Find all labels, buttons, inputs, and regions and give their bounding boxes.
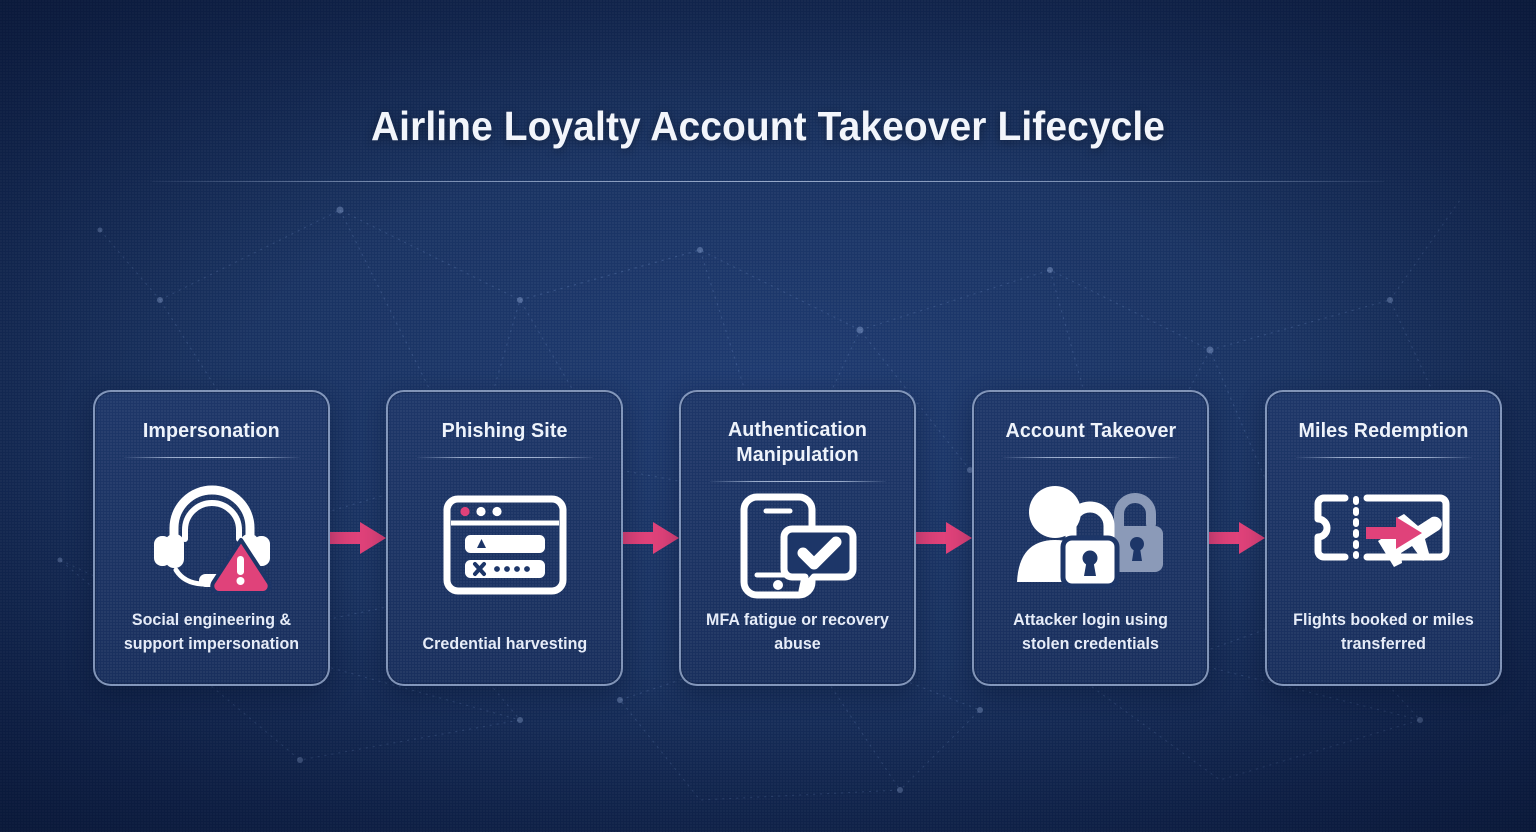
step-description: MFA fatigue or recovery abuse (698, 609, 897, 662)
flow-connector-2 (623, 390, 679, 686)
step-title: Phishing Site (442, 418, 568, 443)
arrow-right-exit-icon (1366, 516, 1422, 550)
page-title: Airline Loyalty Account Takeover Lifecyc… (38, 104, 1497, 149)
step-description: Credential harvesting (422, 633, 587, 662)
step-card-phishing-site[interactable]: Phishing Site (386, 390, 623, 686)
step-title: Miles Redemption (1299, 418, 1469, 443)
step-card-authentication-manipulation[interactable]: Authentication Manipulation MFA fatigue … (679, 390, 916, 686)
step-card-account-takeover[interactable]: Account Takeover (972, 390, 1209, 686)
step-card-impersonation[interactable]: Impersonation (93, 390, 330, 686)
arrow-right-icon (916, 521, 972, 555)
phone-approval-icon (695, 482, 900, 609)
step-description: Flights booked or miles transferred (1284, 609, 1483, 662)
browser-login-form-icon (402, 458, 607, 632)
user-locks-icon (988, 458, 1193, 609)
infographic-canvas: Airline Loyalty Account Takeover Lifecyc… (0, 0, 1536, 832)
flow-connector-3 (916, 390, 972, 686)
step-title: Impersonation (143, 418, 280, 443)
arrow-right-icon (623, 521, 679, 555)
flow-connector-4 (1209, 390, 1265, 686)
title-divider (152, 181, 1384, 182)
step-title: Account Takeover (1005, 418, 1176, 443)
arrow-right-icon (1209, 521, 1265, 555)
headset-warning-icon (109, 458, 314, 609)
header: Airline Loyalty Account Takeover Lifecyc… (0, 104, 1536, 182)
lifecycle-flow: Impersonation (93, 390, 1443, 686)
step-description: Social engineering & support impersonati… (112, 609, 311, 662)
step-description: Attacker login using stolen credentials (991, 609, 1190, 662)
arrow-right-icon (330, 521, 386, 555)
flow-connector-1 (330, 390, 386, 686)
step-title: Authentication Manipulation (699, 418, 896, 467)
